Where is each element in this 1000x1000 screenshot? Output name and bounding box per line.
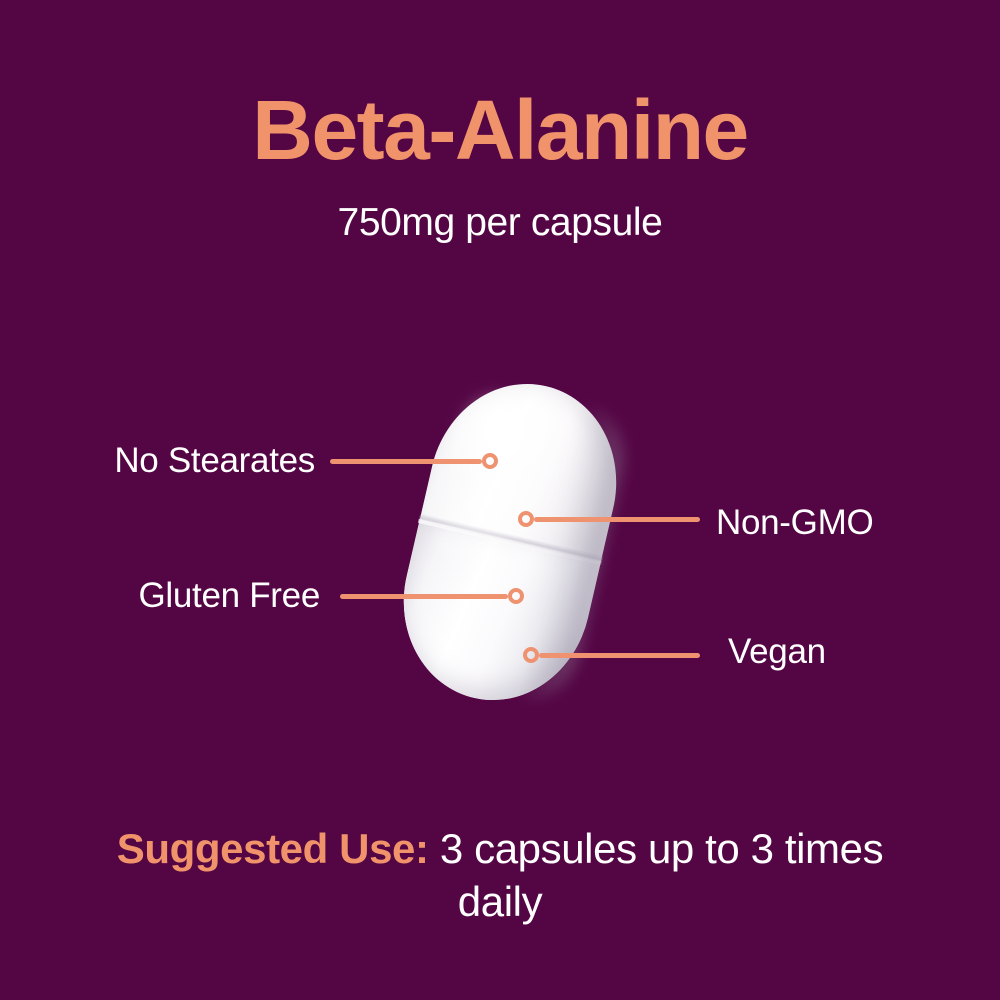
product-subtitle: 750mg per capsule (0, 203, 1000, 242)
callout-label-gluten-free: Gluten Free (138, 578, 320, 613)
suggested-use-label: Suggested Use: (117, 825, 429, 872)
callout-label-non-gmo: Non-GMO (716, 505, 873, 540)
callout-leader-vegan (539, 653, 700, 658)
suggested-use-text: 3 capsules up to 3 times daily (429, 825, 884, 925)
callout-dot-non-gmo (518, 511, 534, 527)
callout-label-vegan: Vegan (728, 634, 826, 669)
product-infographic: Beta-Alanine 750mg per capsule No Steara… (0, 0, 1000, 1000)
product-title: Beta-Alanine (0, 88, 1000, 172)
callout-leader-non-gmo (534, 517, 700, 522)
callout-dot-vegan (523, 647, 539, 663)
callout-label-no-stearates: No Stearates (114, 443, 315, 478)
callout-dot-no-stearates (482, 453, 498, 469)
callout-leader-no-stearates (330, 459, 482, 464)
capsule-image (383, 365, 636, 719)
suggested-use: Suggested Use: 3 capsules up to 3 times … (70, 822, 930, 929)
callout-leader-gluten-free (340, 594, 508, 599)
callout-dot-gluten-free (508, 588, 524, 604)
